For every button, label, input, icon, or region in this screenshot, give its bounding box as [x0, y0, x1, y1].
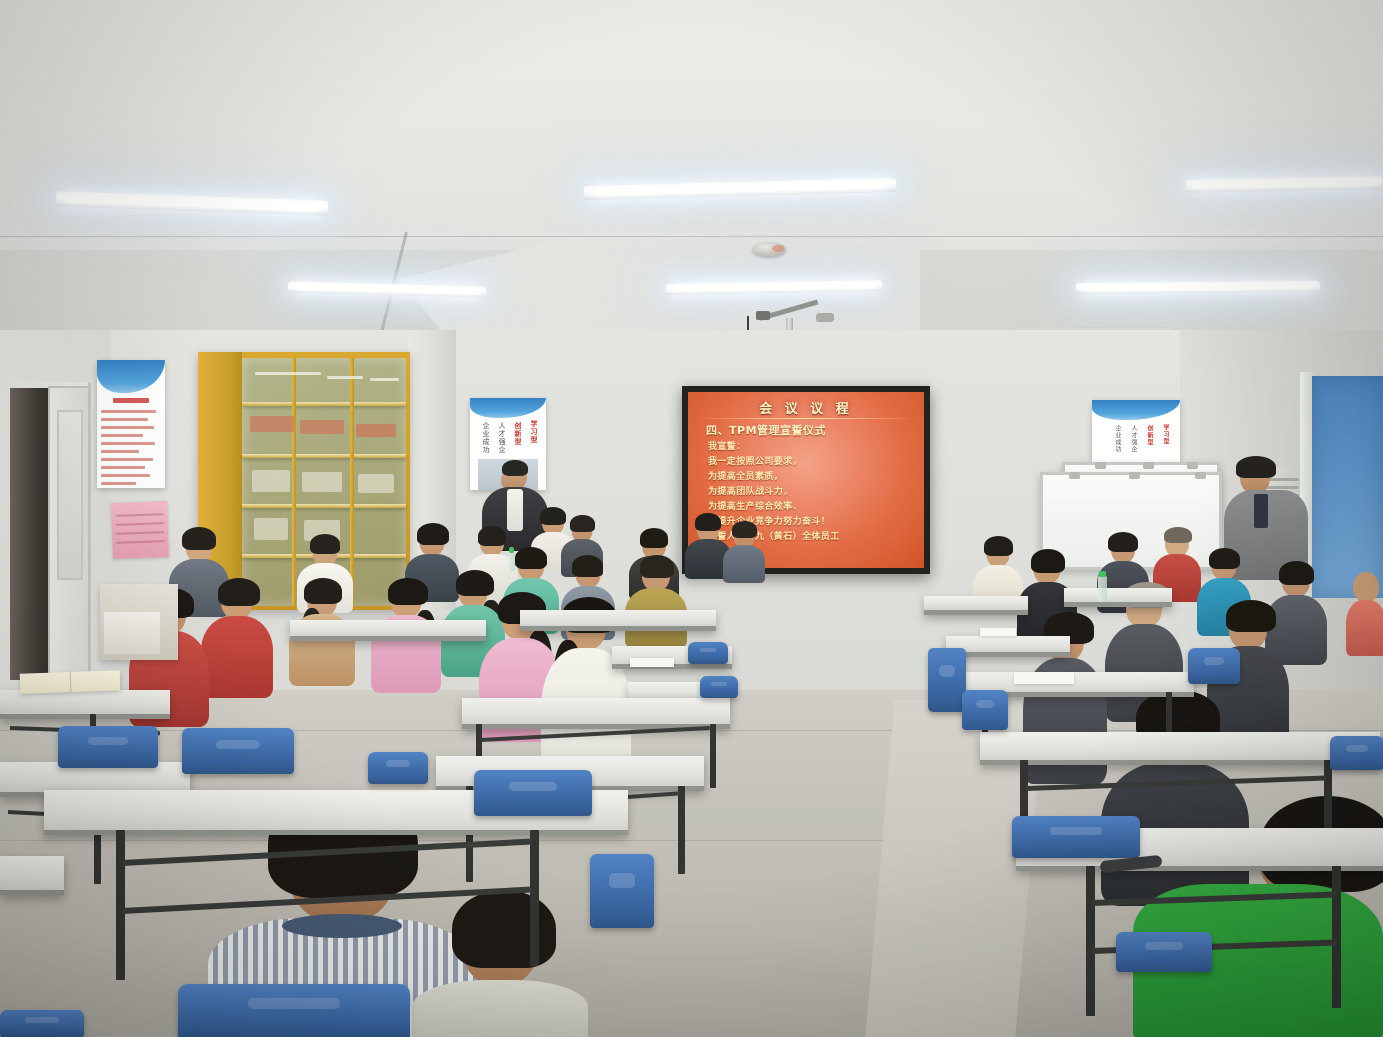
paper — [980, 628, 1016, 636]
desk — [462, 698, 730, 724]
desk — [924, 596, 1028, 610]
chair[interactable] — [1188, 648, 1240, 684]
chair-foreground[interactable] — [178, 984, 410, 1037]
slide-title: 会 议 议 程 — [688, 398, 924, 417]
desk — [290, 620, 486, 636]
chair[interactable] — [962, 690, 1008, 730]
audience-member — [1346, 572, 1383, 652]
doorway-opening — [10, 388, 50, 680]
door-glass-panel — [57, 410, 83, 580]
projector-ceiling-mount — [816, 313, 834, 322]
slide-heading: 四、TPM管理宣誓仪式 — [706, 422, 826, 438]
presenter-shirt — [507, 489, 523, 531]
audience-member — [624, 560, 688, 646]
ceiling-light-6 — [1076, 281, 1320, 294]
pink-notice — [111, 501, 169, 559]
chair[interactable] — [590, 854, 654, 928]
chair[interactable] — [1116, 932, 1212, 972]
poster-right-wall: 学习型 创新型 人才强企 企业成功 — [1092, 400, 1180, 466]
slide-line: 为提高团队战斗力， — [708, 485, 916, 500]
chair[interactable] — [474, 770, 592, 816]
chair[interactable] — [1012, 816, 1140, 858]
desk — [1064, 588, 1172, 602]
water-bottle — [1098, 576, 1107, 602]
slide-line: 为提高生产综合效率、 — [708, 500, 916, 515]
ceiling-seam — [0, 236, 1383, 237]
desk — [962, 672, 1194, 692]
door[interactable] — [48, 386, 90, 680]
slide-line: 为提高全员素质， — [708, 470, 916, 485]
desk — [980, 732, 1380, 760]
paper — [630, 658, 674, 667]
window-blind[interactable] — [1312, 376, 1383, 598]
chair[interactable] — [0, 1010, 84, 1037]
notebook — [20, 670, 121, 693]
projector-ceiling-mount — [756, 311, 770, 320]
chair[interactable] — [58, 726, 158, 768]
desk — [0, 690, 170, 714]
chair[interactable] — [928, 648, 966, 712]
slide-line: 我宣誓： — [708, 440, 916, 455]
audience-member — [722, 524, 766, 580]
meeting-room-photo: 学习型 创新型 人才强企 企业成功 学习型 创新型 人才强企 企业成功 — [0, 0, 1383, 1037]
audience-member — [200, 584, 274, 696]
side-table-paper — [104, 612, 160, 654]
chair[interactable] — [368, 752, 428, 784]
poster-left-notice — [97, 360, 165, 488]
desk — [0, 856, 64, 890]
audience-foreground-left-2 — [410, 900, 590, 1037]
desk — [520, 610, 716, 626]
chair[interactable] — [700, 676, 738, 698]
water-bottle — [508, 552, 515, 572]
chair[interactable] — [688, 642, 728, 664]
smoke-detector-icon — [752, 242, 786, 256]
chair[interactable] — [1330, 736, 1383, 770]
paper — [1014, 672, 1074, 684]
chair[interactable] — [182, 728, 294, 774]
slide-line: 我一定按照公司要求， — [708, 455, 916, 470]
slide-divider — [695, 418, 917, 419]
ceiling-upper-band — [0, 0, 1383, 250]
